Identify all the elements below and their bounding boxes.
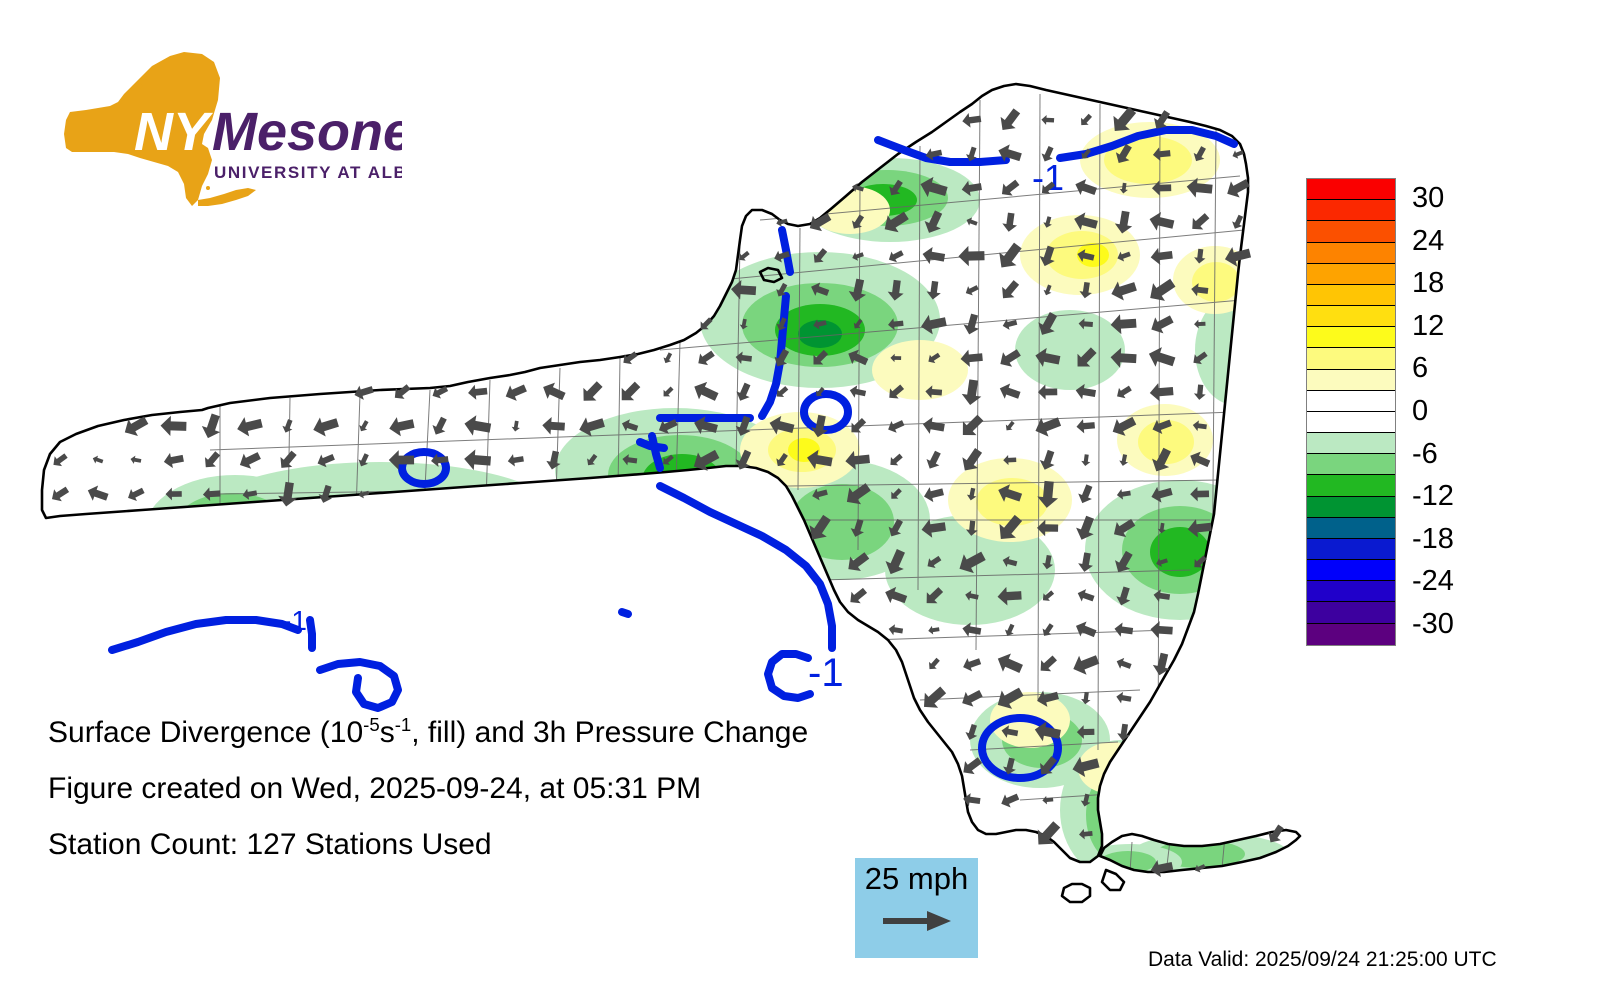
colorbar-band [1307,454,1395,475]
caption-title-pre: Surface Divergence (10 [48,716,363,749]
colorbar-band [1307,624,1395,645]
colorbar-band [1307,348,1395,369]
colorbar-band [1307,391,1395,412]
contour-label: -1 [808,651,844,695]
divergence-colorbar [1306,178,1396,646]
colorbar-band [1307,370,1395,391]
weather-map-figure: NYS Mesonet UNIVERSITY AT ALBANY [0,0,1600,1000]
colorbar-tick-label: 24 [1412,227,1444,256]
colorbar-tick-label: -18 [1412,525,1454,554]
colorbar-tick-label: 18 [1412,269,1444,298]
colorbar-tick-label: -24 [1412,567,1454,596]
caption-created: Figure created on Wed, 2025-09-24, at 05… [48,774,948,804]
colorbar-band [1307,602,1395,623]
colorbar-tick-labels: 3024181260-6-12-18-24-30 [1412,178,1532,646]
colorbar-band [1307,539,1395,560]
colorbar-band [1307,412,1395,433]
colorbar-tick-label: 6 [1412,354,1428,383]
figure-caption: Surface Divergence (10-5s-1, fill) and 3… [48,718,948,886]
colorbar-tick-label: -6 [1412,440,1438,469]
colorbar-tick-label: 12 [1412,312,1444,341]
colorbar-tick-label: 30 [1412,184,1444,213]
colorbar-band [1307,560,1395,581]
caption-title-sup2: -1 [395,714,412,735]
wind-arrow-icon [881,908,953,934]
caption-title-post: , fill) and 3h Pressure Change [411,716,808,749]
colorbar-band [1307,518,1395,539]
colorbar-band [1307,264,1395,285]
caption-station-count: Station Count: 127 Stations Used [48,830,948,860]
wind-speed-legend: 25 mph [855,858,978,958]
colorbar-band [1307,327,1395,348]
caption-title-mid: s [380,716,395,749]
colorbar-band [1307,200,1395,221]
colorbar-band [1307,285,1395,306]
colorbar-band [1307,221,1395,242]
data-valid-timestamp: Data Valid: 2025/09/24 21:25:00 UTC [1148,948,1497,972]
colorbar-band [1307,243,1395,264]
colorbar-band [1307,433,1395,454]
caption-title-sup1: -5 [363,714,380,735]
colorbar-band [1307,179,1395,200]
colorbar-band [1307,306,1395,327]
contour-label: -1 [282,605,307,636]
colorbar-tick-label: 0 [1412,397,1428,426]
long-island-fill-layer [1078,833,1290,880]
caption-title: Surface Divergence (10-5s-1, fill) and 3… [48,718,948,748]
colorbar-tick-label: -30 [1412,610,1454,639]
wind-legend-label: 25 mph [865,863,968,894]
colorbar-tick-label: -12 [1412,482,1454,511]
colorbar-band [1307,581,1395,602]
colorbar-band [1307,475,1395,496]
colorbar-band [1307,497,1395,518]
